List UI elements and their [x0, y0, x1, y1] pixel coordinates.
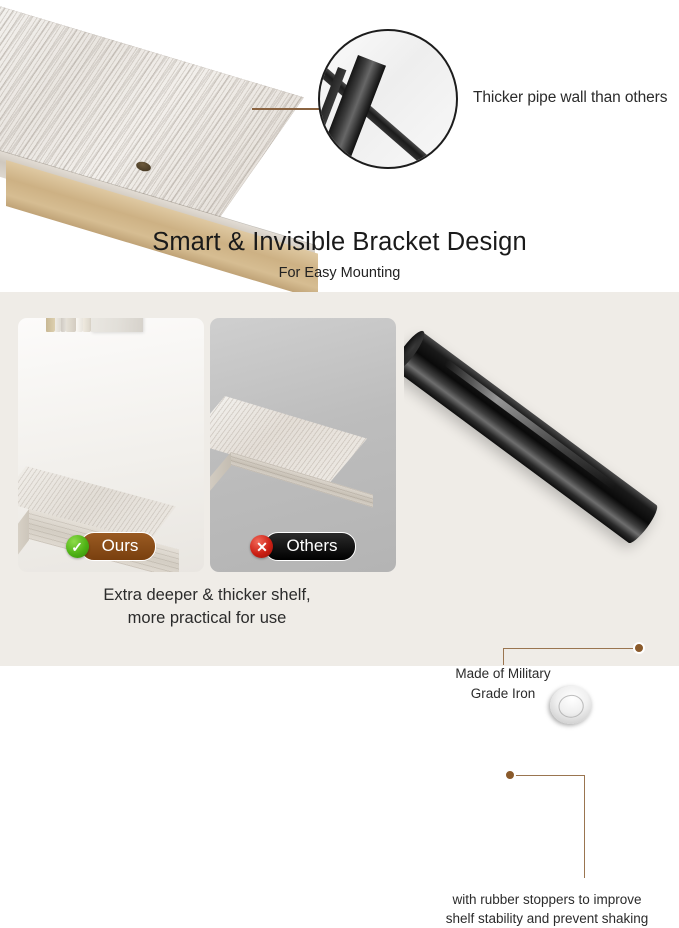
leader-line-military-drop	[503, 648, 504, 665]
annotation-rubber-stoppers: with rubber stoppers to improve shelf st…	[418, 890, 676, 928]
annotation-rubber-line2: shelf stability and prevent shaking	[418, 909, 676, 928]
leader-line-military	[503, 648, 633, 649]
badge-ours: ✓ Ours	[18, 532, 204, 561]
annotation-military-grade: Made of Military Grade Iron	[428, 664, 578, 703]
comparison-panel-ours: БОЖЕСТВЕННАЯ КОМЕДИЯ РАЙ графиум ✓ Ours	[18, 318, 204, 572]
pipe-highlight	[444, 359, 617, 490]
check-mark-icon: ✓	[66, 535, 89, 558]
book-item	[83, 318, 91, 332]
magnifier-leader-line	[252, 108, 320, 110]
annotation-military-line2: Grade Iron	[428, 684, 578, 704]
page-subtitle: For Easy Mounting	[0, 265, 679, 281]
badge-ours-label: Ours	[80, 532, 157, 561]
book-cover-front: графиум	[91, 318, 143, 332]
comparison-caption: Extra deeper & thicker shelf, more pract…	[18, 584, 396, 631]
book-item	[66, 318, 76, 332]
comparison-caption-line2: more practical for use	[18, 607, 396, 630]
floating-shelf-board	[0, 2, 326, 197]
book-item	[76, 318, 83, 332]
comparison-caption-line1: Extra deeper & thicker shelf,	[18, 584, 396, 607]
pipe-body	[404, 330, 661, 546]
badge-others: ✕ Others	[210, 532, 396, 561]
magnifier-circle	[318, 29, 458, 169]
annotation-military-line1: Made of Military	[428, 664, 578, 684]
bracket-pipe-illustration	[404, 300, 679, 666]
page-title: Smart & Invisible Bracket Design	[0, 228, 679, 257]
leader-line-rubber	[510, 775, 585, 776]
marker-dot-rubber	[504, 769, 516, 781]
pipe-open-end	[404, 327, 429, 374]
comparison-panel-others: ✕ Others	[210, 318, 396, 572]
thicker-pipe-callout: Thicker pipe wall than others	[473, 89, 667, 107]
book-item: БОЖЕСТВЕННАЯ КОМЕДИЯ РАЙ	[46, 318, 55, 332]
comparison-panel-group: БОЖЕСТВЕННАЯ КОМЕДИЯ РАЙ графиум ✓ Ours	[18, 318, 396, 572]
leader-line-rubber-drop	[584, 775, 585, 878]
shelf-side-edge	[210, 452, 231, 497]
annotation-rubber-line1: with rubber stoppers to improve	[418, 890, 676, 909]
title-block: Smart & Invisible Bracket Design For Eas…	[0, 228, 679, 281]
marker-dot-military	[633, 642, 645, 654]
features-section: БОЖЕСТВЕННАЯ КОМЕДИЯ РАЙ графиум ✓ Ours	[0, 292, 679, 666]
badge-others-label: Others	[264, 532, 355, 561]
